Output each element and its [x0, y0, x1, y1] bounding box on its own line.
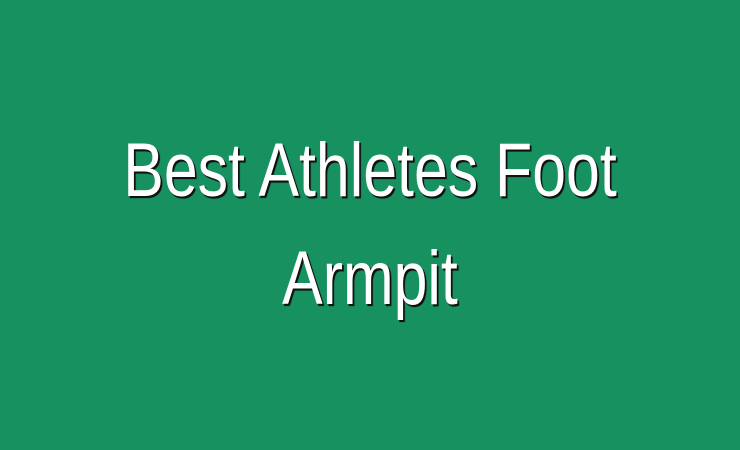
- page-title-line-2: Armpit: [88, 225, 651, 333]
- page-title-line-1: Best Athletes Foot: [88, 117, 651, 225]
- page-title: Best Athletes Foot Armpit: [74, 117, 666, 333]
- banner-graphic: Best Athletes Foot Armpit: [0, 0, 740, 450]
